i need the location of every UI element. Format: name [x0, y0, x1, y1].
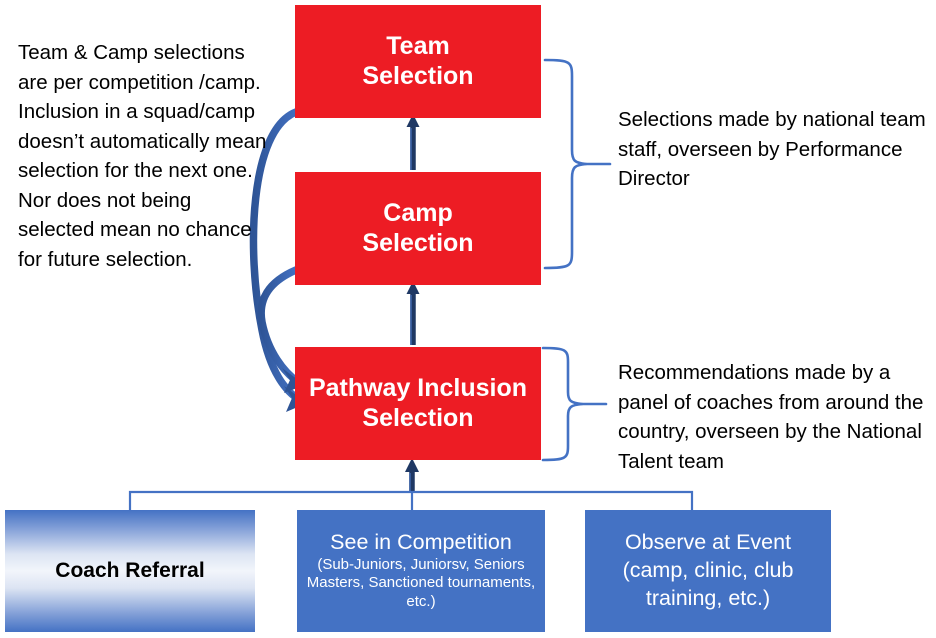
arrow-sources-to-pathway — [405, 458, 419, 492]
source-box-observe-at-event[interactable]: Observe at Event (camp, clinic, club tra… — [585, 510, 831, 632]
stage-box-team-selection[interactable]: Team Selection — [295, 5, 541, 118]
source-observe-title: Observe at Event — [625, 529, 791, 557]
note-selection-validity: Team & Camp selections are per competiti… — [18, 38, 270, 274]
stage-camp-line2: Selection — [362, 229, 473, 259]
source-coach-title: Coach Referral — [55, 559, 204, 583]
source-competition-detail: (Sub-Juniors, Juniorsv, Seniors Masters,… — [297, 556, 545, 612]
note-coach-panel: Recommendations made by a panel of coach… — [618, 358, 930, 476]
stage-pathway-line1: Pathway Inclusion — [309, 374, 527, 404]
stage-pathway-line2: Selection — [309, 404, 527, 434]
stage-box-camp-selection[interactable]: Camp Selection — [295, 172, 541, 285]
source-observe-detail: (camp, clinic, club training, etc.) — [585, 557, 831, 613]
source-box-see-in-competition[interactable]: See in Competition (Sub-Juniors, Juniors… — [297, 510, 545, 632]
stage-box-pathway-inclusion-selection[interactable]: Pathway Inclusion Selection — [295, 347, 541, 460]
source-bus-connector — [130, 492, 692, 510]
brace-top-stages — [545, 60, 610, 268]
diagram-canvas: Team & Camp selections are per competiti… — [0, 0, 936, 638]
arrow-pathway-to-camp — [407, 281, 420, 345]
stage-camp-line1: Camp — [362, 199, 473, 229]
stage-team-line2: Selection — [362, 62, 473, 92]
note-national-team-staff: Selections made by national team staff, … — [618, 105, 928, 194]
stage-team-line1: Team — [362, 32, 473, 62]
source-box-coach-referral[interactable]: Coach Referral — [5, 510, 255, 632]
brace-pathway-stage — [543, 348, 606, 460]
source-competition-title: See in Competition — [330, 530, 512, 555]
arrow-camp-to-team — [407, 114, 420, 170]
